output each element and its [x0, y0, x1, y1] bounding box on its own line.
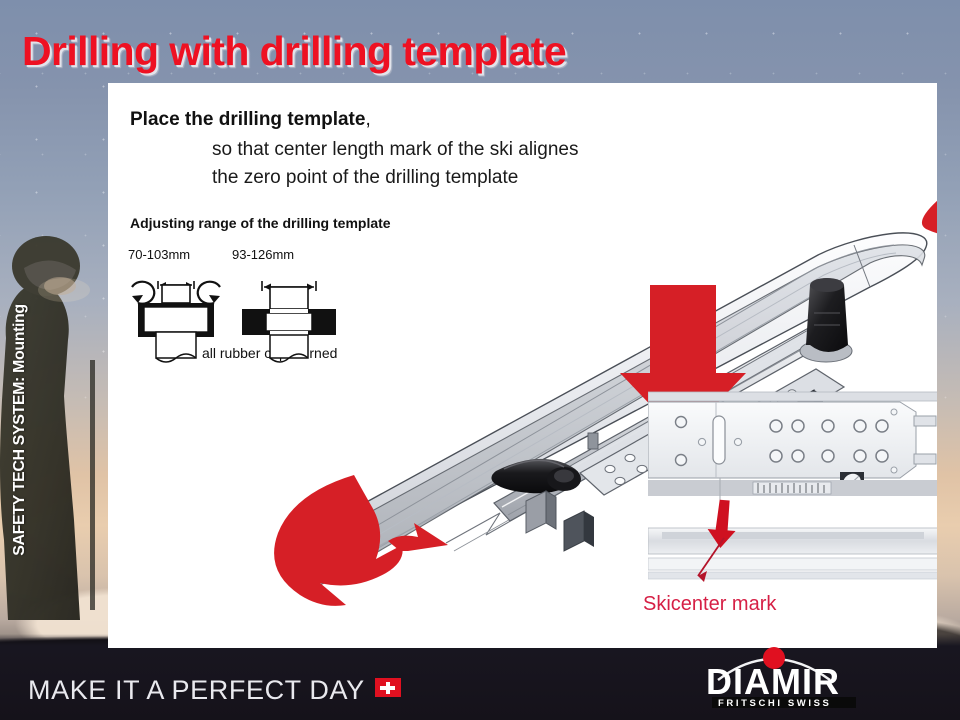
- instruction-line-2: so that center length mark of the ski al…: [212, 139, 578, 161]
- skicenter-mark-label: Skicenter mark: [643, 593, 776, 616]
- instruction-heading-comma: ,: [365, 109, 370, 130]
- footer-tagline: MAKE IT A PERFECT DAY: [28, 675, 401, 706]
- content-panel: Place the drilling template, so that cen…: [108, 83, 937, 648]
- svg-text:FRITSCHI SWISS: FRITSCHI SWISS: [718, 698, 831, 708]
- diamir-logo: DIAMIR FRITSCHI SWISS: [688, 644, 938, 708]
- skicenter-detail-inset: [648, 388, 937, 588]
- footer-tagline-text: MAKE IT A PERFECT DAY: [28, 675, 365, 705]
- svg-text:DIAMIR: DIAMIR: [706, 661, 840, 702]
- page-title: Drilling with drilling template: [22, 28, 566, 75]
- cap-diagram-narrow: [132, 281, 220, 362]
- inset-ski-strips: [648, 528, 937, 579]
- skier-photo-silhouette: [0, 190, 114, 620]
- template-pin: [588, 433, 598, 449]
- inset-template-plate: [648, 402, 936, 493]
- swiss-flag-icon: [375, 678, 401, 697]
- instruction-heading: Place the drilling template,: [130, 109, 371, 131]
- instruction-heading-bold: Place the drilling template: [130, 109, 365, 130]
- inset-top-rail: [648, 392, 937, 401]
- inset-scale-ruler: [648, 478, 937, 500]
- dimension-label-left: 70-103mm: [128, 247, 190, 262]
- slide-root: SAFETY TECH SYSTEM: Mounting Drilling wi…: [0, 0, 960, 720]
